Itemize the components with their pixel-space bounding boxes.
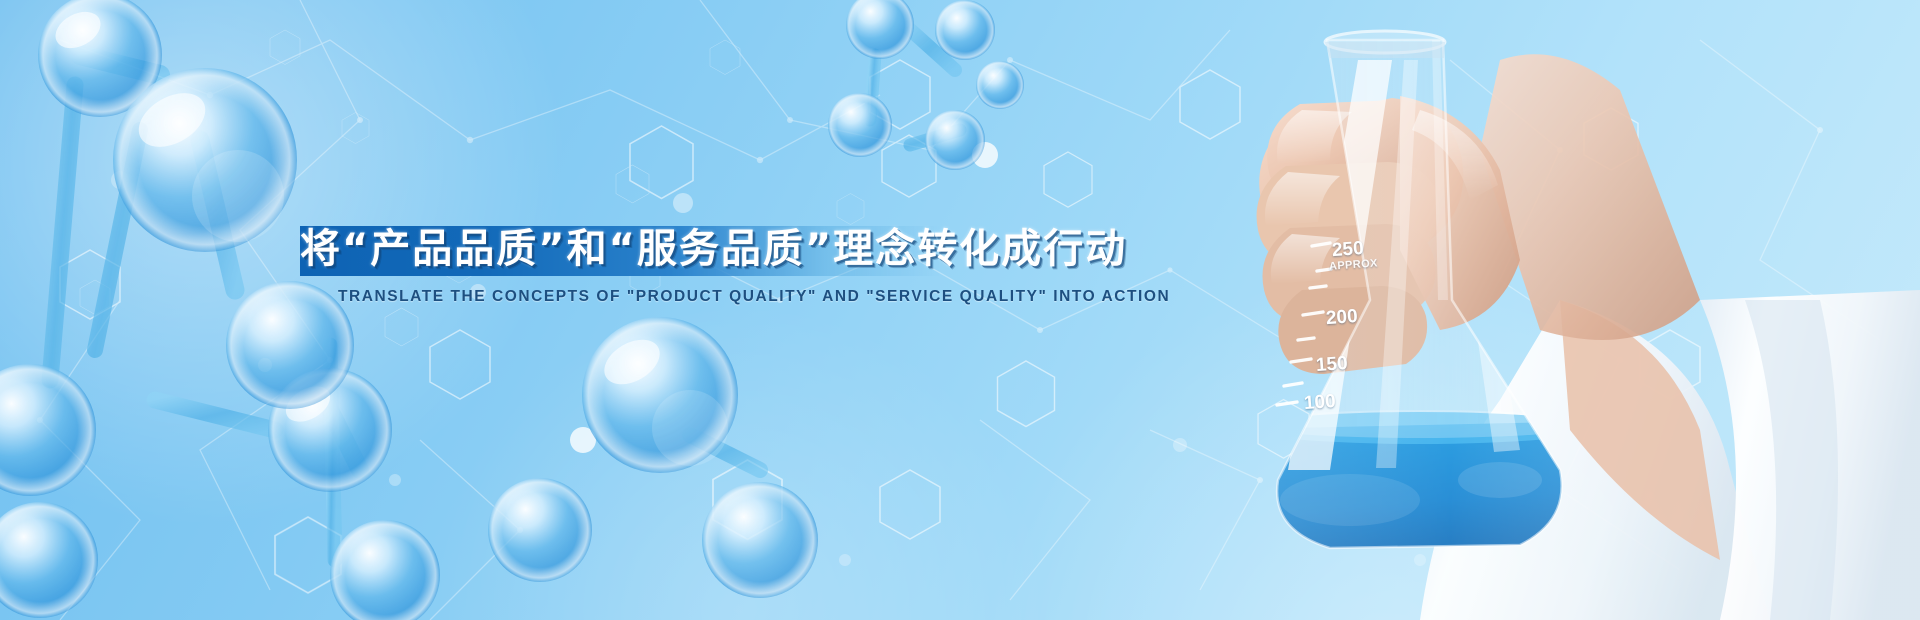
hero-banner: 250 APPROX 200 150 100 将“产品品质”和“服务品质”理念转… xyxy=(0,0,1920,620)
banner-subtitle: TRANSLATE THE CONCEPTS OF "PRODUCT QUALI… xyxy=(338,288,1238,306)
